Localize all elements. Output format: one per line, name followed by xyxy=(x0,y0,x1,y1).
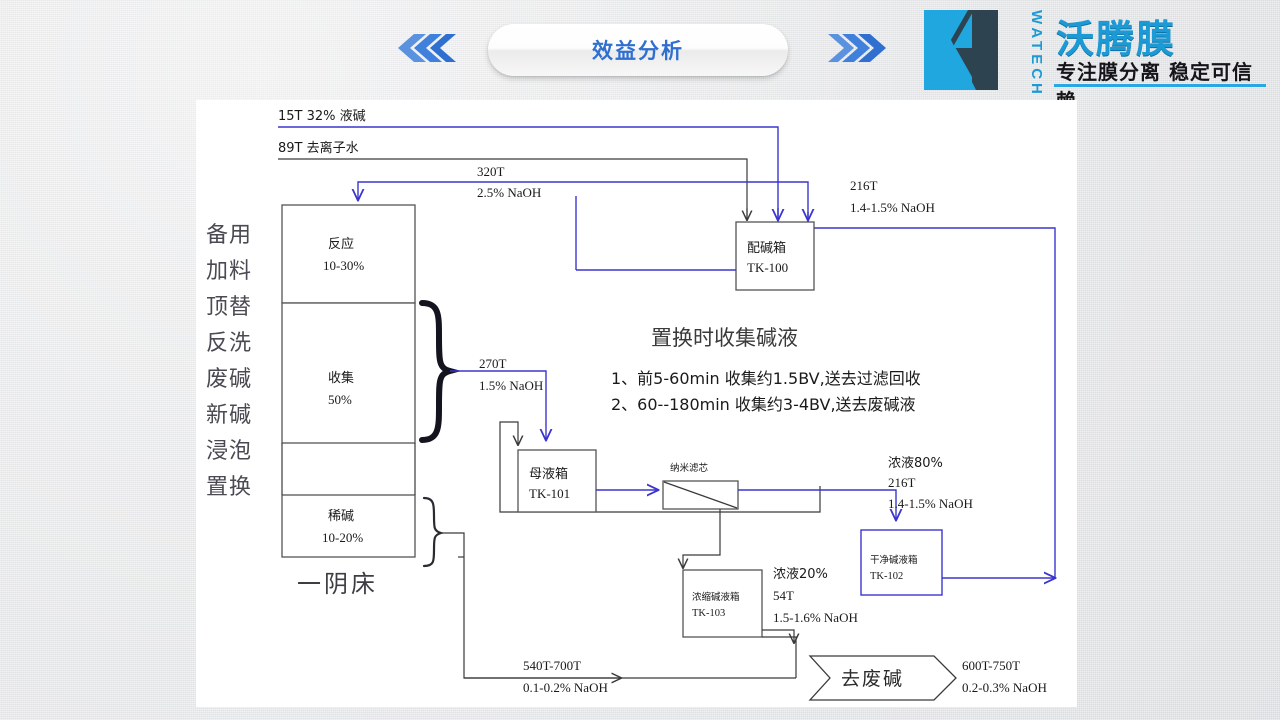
stream-216-conc: 1.4-1.5% NaOH xyxy=(850,200,935,215)
column-segment-reaction-value: 10-30% xyxy=(323,258,364,273)
side-step-1: 加料 xyxy=(206,259,252,284)
section-title-pill[interactable]: 效益分析 xyxy=(488,24,788,76)
side-step-4: 废碱 xyxy=(206,367,252,392)
column-segment-reaction xyxy=(282,205,415,303)
stream-conc80-line2: 216T xyxy=(888,475,916,490)
side-step-2: 顶替 xyxy=(206,295,252,320)
stream-320-qty: 320T xyxy=(477,164,505,179)
double-chevron-left-icon xyxy=(394,32,456,64)
column-segment-dilute xyxy=(282,495,415,557)
nano-filter-label: 纳米滤芯 xyxy=(670,462,709,474)
side-step-0: 备用 xyxy=(206,223,252,248)
logo-underline xyxy=(1054,84,1266,87)
side-step-7: 置换 xyxy=(206,475,252,500)
process-flow-diagram: 15T 32% 液碱 89T 去离子水 320T 2.5% NaOH 反应 10… xyxy=(196,100,1077,707)
side-step-3: 反洗 xyxy=(206,331,252,356)
stream-320-conc: 2.5% NaOH xyxy=(477,185,541,200)
stream-270-conc: 1.5% NaOH xyxy=(479,378,543,393)
tank-tk-100-name: 配碱箱 xyxy=(747,240,786,256)
side-step-list: 备用 加料 顶替 反洗 废碱 新碱 浸泡 置换 xyxy=(206,223,252,500)
stream-conc20-line3: 1.5-1.6% NaOH xyxy=(773,610,858,625)
column-segment-collect-name: 收集 xyxy=(328,370,354,386)
feed-caustic-label: 15T 32% 液碱 xyxy=(278,109,366,124)
stream-bottom-left-conc: 0.1-0.2% NaOH xyxy=(523,680,608,695)
tank-tk-100-tag: TK-100 xyxy=(747,260,788,275)
tank-tk-102-tag: TK-102 xyxy=(870,571,903,582)
stream-conc20-line1: 浓液20% xyxy=(773,567,828,582)
stream-216-qty: 216T xyxy=(850,178,878,193)
filter-to-tk103-line xyxy=(683,509,720,568)
tank-tk-100 xyxy=(736,222,814,290)
tank-tk-101-tag: TK-101 xyxy=(529,486,570,501)
stream-conc80-line1: 浓液80% xyxy=(888,456,943,471)
waste-arrow-label: 去废碱 xyxy=(841,668,904,690)
column-caption: 一阴床 xyxy=(297,570,378,598)
column-segment-dilute-value: 10-20% xyxy=(322,530,363,545)
logo-vertical-text: WATECH xyxy=(1028,10,1045,88)
watech-w-mark-icon xyxy=(920,8,1016,97)
tank-tk-102-name: 干净碱液箱 xyxy=(870,554,918,566)
note-title: 置换时收集碱液 xyxy=(651,326,798,350)
logo-brand-name: 沃腾膜 xyxy=(1056,8,1176,63)
stream-conc20-line2: 54T xyxy=(773,588,794,603)
page-title: 效益分析 xyxy=(592,35,684,65)
stream-bottom-right-conc: 0.2-0.3% NaOH xyxy=(962,680,1047,695)
dilute-brace-icon xyxy=(424,498,441,566)
collect-brace-icon xyxy=(422,303,450,440)
column-segment-reaction-name: 反应 xyxy=(328,236,354,252)
feed-di-water-label: 89T 去离子水 xyxy=(278,140,359,156)
tank-tk-101-name: 母液箱 xyxy=(529,466,568,482)
column-segment-collect-value: 50% xyxy=(328,392,352,407)
stream-conc80-line3: 1.4-1.5% NaOH xyxy=(888,496,973,511)
tank-tk-103-tag: TK-103 xyxy=(692,608,725,619)
filter-to-tk102-line xyxy=(738,490,896,520)
tank-tk-103-name: 浓缩碱液箱 xyxy=(692,591,740,603)
stream-bottom-left-qty: 540T-700T xyxy=(523,658,581,673)
note-line-2: 2、60--180min 收集约3-4BV,送去废碱液 xyxy=(611,395,916,414)
stream-bottom-right-qty: 600T-750T xyxy=(962,658,1020,673)
column-segment-dilute-name: 稀碱 xyxy=(328,509,354,524)
double-chevron-right-icon xyxy=(828,32,890,64)
tk103-outlet-line xyxy=(762,637,796,670)
stream-270-qty: 270T xyxy=(479,356,507,371)
company-logo: WATECH 沃腾膜 专注膜分离 稳定可信赖 xyxy=(920,4,1270,96)
tank-tk-103 xyxy=(683,570,762,637)
side-step-5: 新碱 xyxy=(206,403,252,428)
note-line-1: 1、前5-60min 收集约1.5BV,送去过滤回收 xyxy=(611,369,921,388)
side-step-6: 浸泡 xyxy=(206,439,252,464)
